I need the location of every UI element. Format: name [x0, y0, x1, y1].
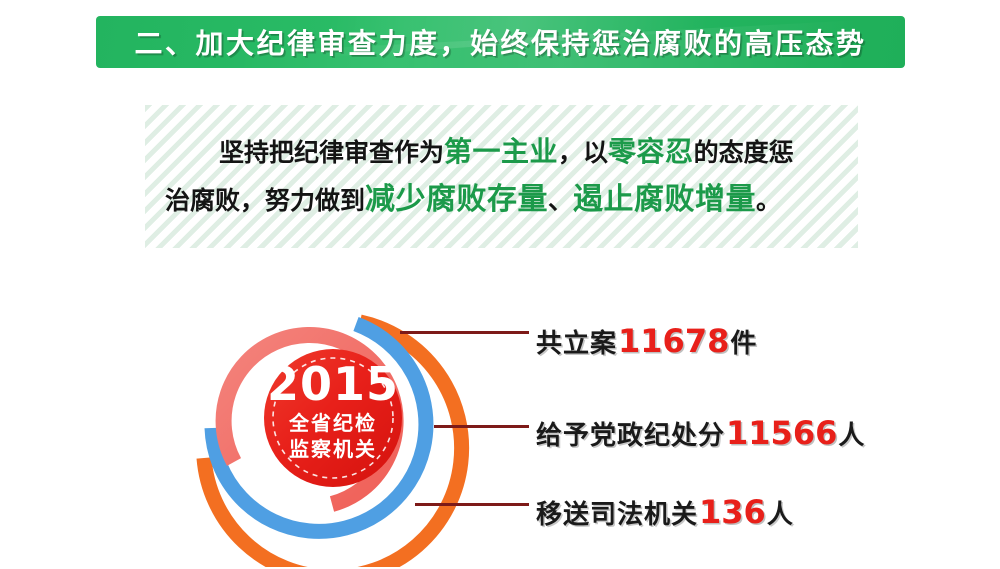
quote-highlight: 零容忍 — [608, 135, 694, 168]
stat-number: 136 — [698, 493, 767, 531]
stat-item-disciplinary-actions: 给予党政纪处分11566人 — [536, 414, 865, 452]
stat-prefix: 移送司法机关 — [536, 500, 698, 530]
connector-line-3 — [415, 503, 529, 506]
section-title: 二、加大纪律审查力度，始终保持惩治腐败的高压态势 — [96, 16, 905, 68]
quote-seg: 坚持把纪律审查作为 — [219, 138, 444, 167]
quote-line-2: 治腐败，努力做到减少腐败存量、遏止腐败增量。 — [165, 175, 838, 225]
quote-highlight: 减少腐败存量 — [365, 182, 548, 217]
quote-seg: 的态度惩 — [694, 138, 794, 167]
quote-seg: 。 — [756, 186, 781, 215]
section-header-banner: 二、加大纪律审查力度，始终保持惩治腐败的高压态势 — [96, 16, 905, 68]
quote-line-1: 坚持把纪律审查作为第一主业，以零容忍的态度惩 — [165, 128, 838, 175]
center-label-line-2: 监察机关 — [289, 437, 377, 461]
stat-number: 11566 — [725, 414, 838, 452]
connector-line-1 — [400, 331, 529, 334]
connector-line-2 — [434, 425, 529, 428]
center-label-line-1: 全省纪检 — [288, 411, 377, 435]
quote-seg: ，以 — [558, 138, 608, 167]
stat-prefix: 共立案 — [536, 329, 617, 359]
stat-suffix: 人 — [767, 500, 794, 530]
stat-suffix: 件 — [730, 329, 757, 359]
quote-highlight: 第一主业 — [444, 135, 558, 168]
stat-item-cases: 共立案11678件 — [536, 322, 757, 360]
center-year: 2015 — [267, 357, 399, 411]
quote-text-container: 坚持把纪律审查作为第一主业，以零容忍的态度惩 治腐败，努力做到减少腐败存量、遏止… — [145, 105, 858, 248]
quote-seg: 、 — [548, 186, 573, 215]
stat-item-transferred-judicial: 移送司法机关136人 — [536, 493, 794, 531]
quote-panel: 坚持把纪律审查作为第一主业，以零容忍的态度惩 治腐败，努力做到减少腐败存量、遏止… — [145, 105, 858, 248]
slide-canvas: 二、加大纪律审查力度，始终保持惩治腐败的高压态势 坚持把纪律审查作为第一主业，以… — [0, 0, 1000, 569]
quote-highlight: 遏止腐败增量 — [573, 182, 756, 217]
quote-seg: 治腐败，努力做到 — [165, 186, 365, 215]
stat-suffix: 人 — [838, 421, 865, 451]
stat-prefix: 给予党政纪处分 — [536, 421, 725, 451]
stat-number: 11678 — [617, 322, 730, 360]
